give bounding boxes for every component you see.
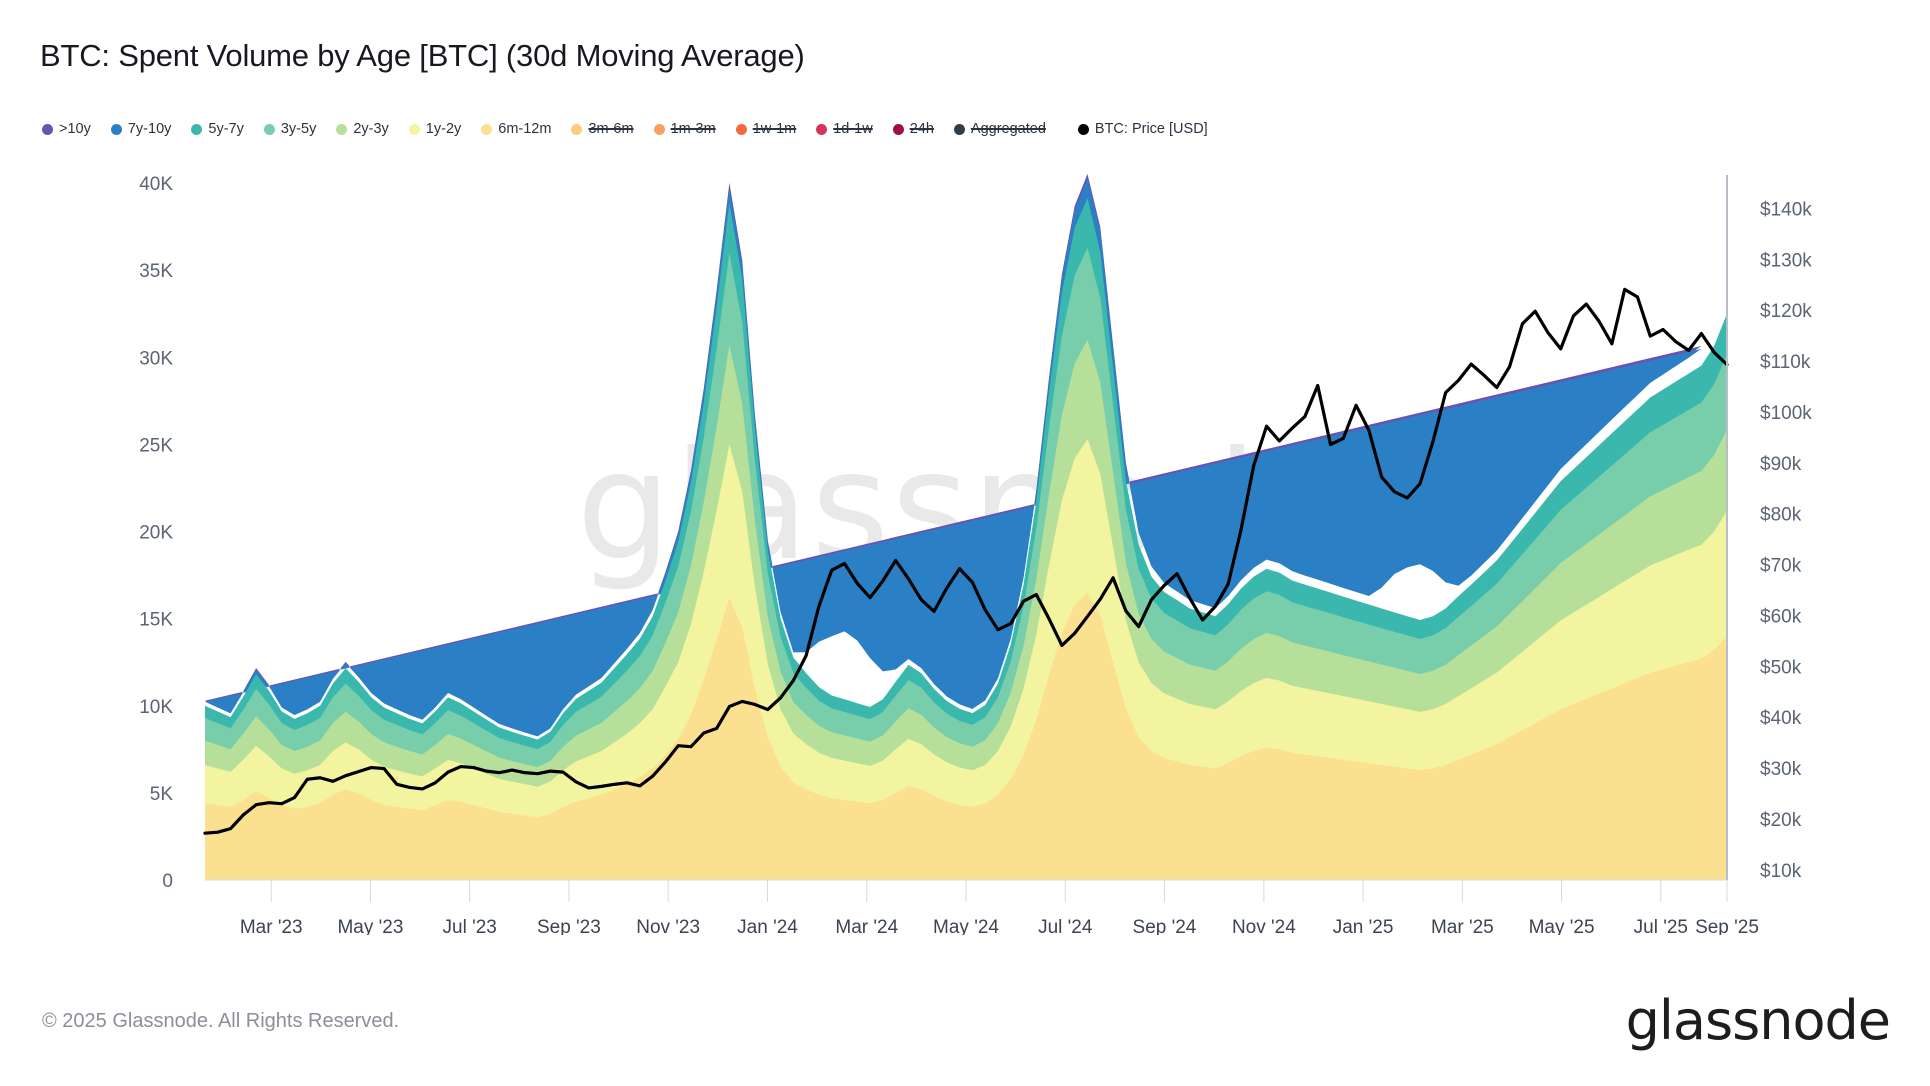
y-axis-right-tick: $60k: [1760, 606, 1802, 627]
y-axis-left-tick: 0: [162, 871, 173, 892]
legend-item-1m-3m[interactable]: 1m-3m: [654, 122, 716, 137]
x-axis-tick: Nov '23: [636, 917, 700, 935]
x-axis-tick: Jul '25: [1634, 917, 1688, 935]
y-axis-left-tick: 40K: [139, 174, 173, 195]
legend-item-label: 1m-3m: [671, 122, 716, 137]
legend-item-label: 3m-6m: [588, 122, 633, 137]
y-axis-right-tick: $10k: [1760, 861, 1802, 882]
legend-color-dot: [654, 124, 665, 135]
x-axis-tick: Mar '24: [835, 917, 898, 935]
legend-item-1w-1m[interactable]: 1w-1m: [736, 122, 797, 137]
legend-color-dot: [816, 124, 827, 135]
legend-item-label: >10y: [59, 122, 91, 137]
legend-item-6m-12m[interactable]: 6m-12m: [481, 122, 551, 137]
y-axis-right-tick: $80k: [1760, 505, 1802, 526]
legend-item-label: 1y-2y: [426, 122, 461, 137]
x-axis-tick: Sep '25: [1695, 917, 1759, 935]
x-axis-tick: Jul '24: [1038, 917, 1093, 935]
legend-color-dot: [954, 124, 965, 135]
legend-color-dot: [481, 124, 492, 135]
legend-item-label: 6m-12m: [498, 122, 551, 137]
legend-color-dot: [1078, 124, 1089, 135]
x-axis-tick: Jan '24: [737, 917, 798, 935]
chart-page: BTC: Spent Volume by Age [BTC] (30d Movi…: [0, 0, 1930, 1086]
x-axis-tick: Mar '25: [1431, 917, 1494, 935]
y-axis-left-tick: 10K: [139, 697, 173, 718]
x-axis-tick: Sep '24: [1133, 917, 1197, 935]
spent-volume-by-age-chart: 05K10K15K20K25K30K35K40K$10k$20k$30k$40k…: [0, 155, 1930, 935]
y-axis-right-tick: $70k: [1760, 556, 1802, 577]
copyright-text: © 2025 Glassnode. All Rights Reserved.: [42, 1010, 399, 1033]
x-axis-tick: Jan '25: [1333, 917, 1394, 935]
legend-item-label: Aggregated: [971, 122, 1046, 137]
y-axis-left-tick: 35K: [139, 261, 173, 282]
legend-color-dot: [336, 124, 347, 135]
legend-item-10y[interactable]: >10y: [42, 122, 91, 137]
legend-color-dot: [42, 124, 53, 135]
y-axis-right-tick: $100k: [1760, 403, 1812, 424]
legend-item-btc-price-usd[interactable]: BTC: Price [USD]: [1078, 122, 1208, 137]
y-axis-left-tick: 5K: [150, 784, 174, 805]
legend-color-dot: [893, 124, 904, 135]
x-axis-tick: Nov '24: [1232, 917, 1296, 935]
x-axis-tick: Jul '23: [443, 917, 497, 935]
y-axis-right-tick: $30k: [1760, 759, 1802, 780]
y-axis-left-tick: 20K: [139, 523, 173, 544]
legend-color-dot: [111, 124, 122, 135]
x-axis-tick: Sep '23: [537, 917, 601, 935]
x-axis-tick: Mar '23: [240, 917, 303, 935]
legend-color-dot: [409, 124, 420, 135]
legend-item-label: 5y-7y: [208, 122, 243, 137]
legend-item-5y-7y[interactable]: 5y-7y: [191, 122, 243, 137]
y-axis-right-tick: $110k: [1760, 352, 1811, 373]
x-axis-tick: May '25: [1529, 917, 1595, 935]
y-axis-right-tick: $90k: [1760, 454, 1802, 475]
legend-item-7y-10y[interactable]: 7y-10y: [111, 122, 172, 137]
legend-item-label: 2y-3y: [353, 122, 388, 137]
legend-color-dot: [264, 124, 275, 135]
legend-item-3m-6m[interactable]: 3m-6m: [571, 122, 633, 137]
legend-item-1d-1w[interactable]: 1d-1w: [816, 122, 873, 137]
legend-item-3y-5y[interactable]: 3y-5y: [264, 122, 316, 137]
y-axis-right-tick: $20k: [1760, 810, 1802, 831]
legend-item-label: 1d-1w: [833, 122, 873, 137]
page-title: BTC: Spent Volume by Age [BTC] (30d Movi…: [40, 38, 805, 74]
legend-color-dot: [571, 124, 582, 135]
legend-color-dot: [191, 124, 202, 135]
legend-item-aggregated[interactable]: Aggregated: [954, 122, 1046, 137]
y-axis-right-tick: $40k: [1760, 708, 1802, 729]
y-axis-right-tick: $130k: [1760, 250, 1812, 271]
y-axis-right-tick: $50k: [1760, 657, 1802, 678]
legend-item-label: BTC: Price [USD]: [1095, 122, 1208, 137]
y-axis-right-tick: $120k: [1760, 301, 1812, 322]
legend-item-label: 24h: [910, 122, 934, 137]
legend-item-label: 3y-5y: [281, 122, 316, 137]
y-axis-left-tick: 25K: [139, 435, 173, 456]
legend-item-label: 1w-1m: [753, 122, 797, 137]
x-axis-tick: May '24: [933, 917, 999, 935]
legend-item-24h[interactable]: 24h: [893, 122, 934, 137]
x-axis-tick: May '23: [337, 917, 403, 935]
chart-legend[interactable]: >10y7y-10y5y-7y3y-5y2y-3y1y-2y6m-12m3m-6…: [42, 122, 1228, 137]
legend-item-1y-2y[interactable]: 1y-2y: [409, 122, 461, 137]
y-axis-right-tick: $140k: [1760, 199, 1812, 220]
legend-color-dot: [736, 124, 747, 135]
legend-item-2y-3y[interactable]: 2y-3y: [336, 122, 388, 137]
legend-item-label: 7y-10y: [128, 122, 172, 137]
y-axis-left-tick: 15K: [139, 610, 173, 631]
glassnode-logo: glassnode: [1626, 994, 1890, 1048]
chart-canvas: 05K10K15K20K25K30K35K40K$10k$20k$30k$40k…: [0, 155, 1930, 935]
y-axis-left-tick: 30K: [139, 348, 173, 369]
